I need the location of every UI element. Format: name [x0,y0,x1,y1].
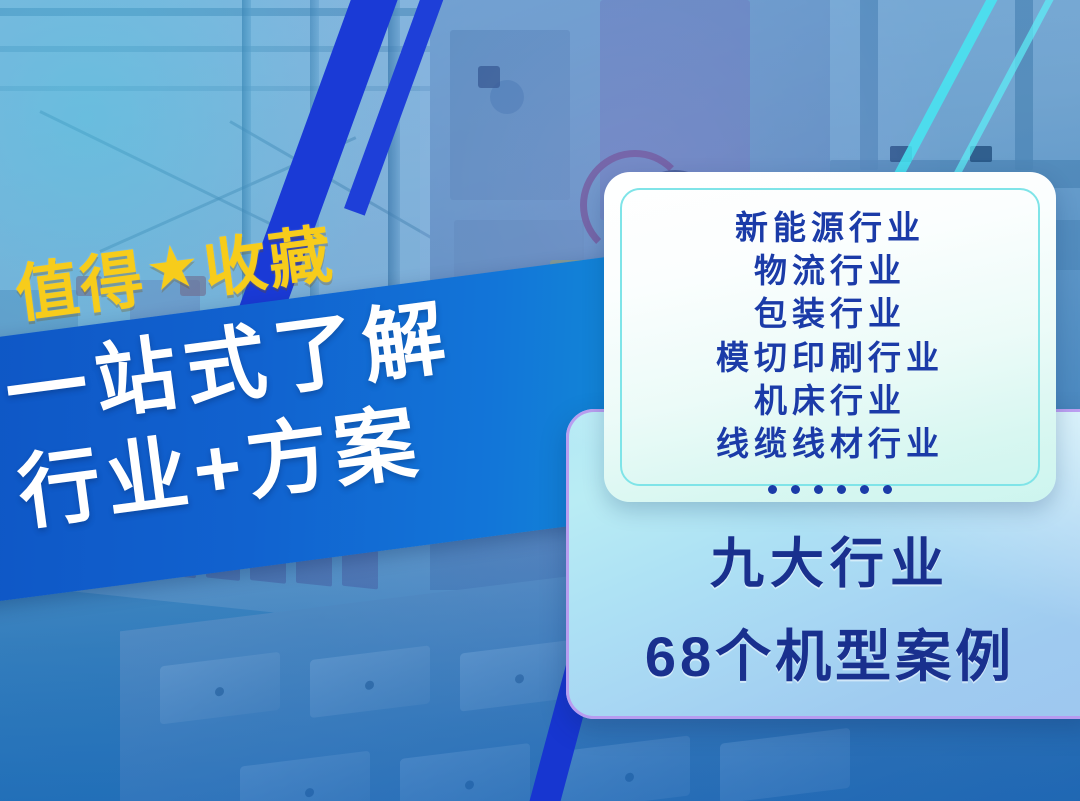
star-icon: ★ [142,234,205,301]
ellipsis-dots [624,474,1036,500]
industry-list: 新能源行业物流行业包装行业模切印刷行业机床行业线缆线材行业 [624,196,1036,476]
industry-item: 机床行业 [754,379,906,422]
industry-item: 线缆线材行业 [716,422,944,465]
industry-item: 物流行业 [754,249,906,292]
ellipsis-dot [860,485,869,494]
ellipsis-dot [837,485,846,494]
ellipsis-dot [768,485,777,494]
summary-line-2: 68个机型案例 [645,612,1015,693]
summary-line-1: 九大行业 [710,519,950,598]
industry-item: 包装行业 [754,292,906,335]
ellipsis-dot [883,485,892,494]
industry-item: 模切印刷行业 [716,336,944,379]
poster-canvas: 值得 ★ 收藏 一站式了解 行业+方案 九大行业 68个机型案例 新能源行业物流… [0,0,1080,801]
industry-item: 新能源行业 [735,206,925,249]
ellipsis-dot [791,485,800,494]
ellipsis-dot [814,485,823,494]
